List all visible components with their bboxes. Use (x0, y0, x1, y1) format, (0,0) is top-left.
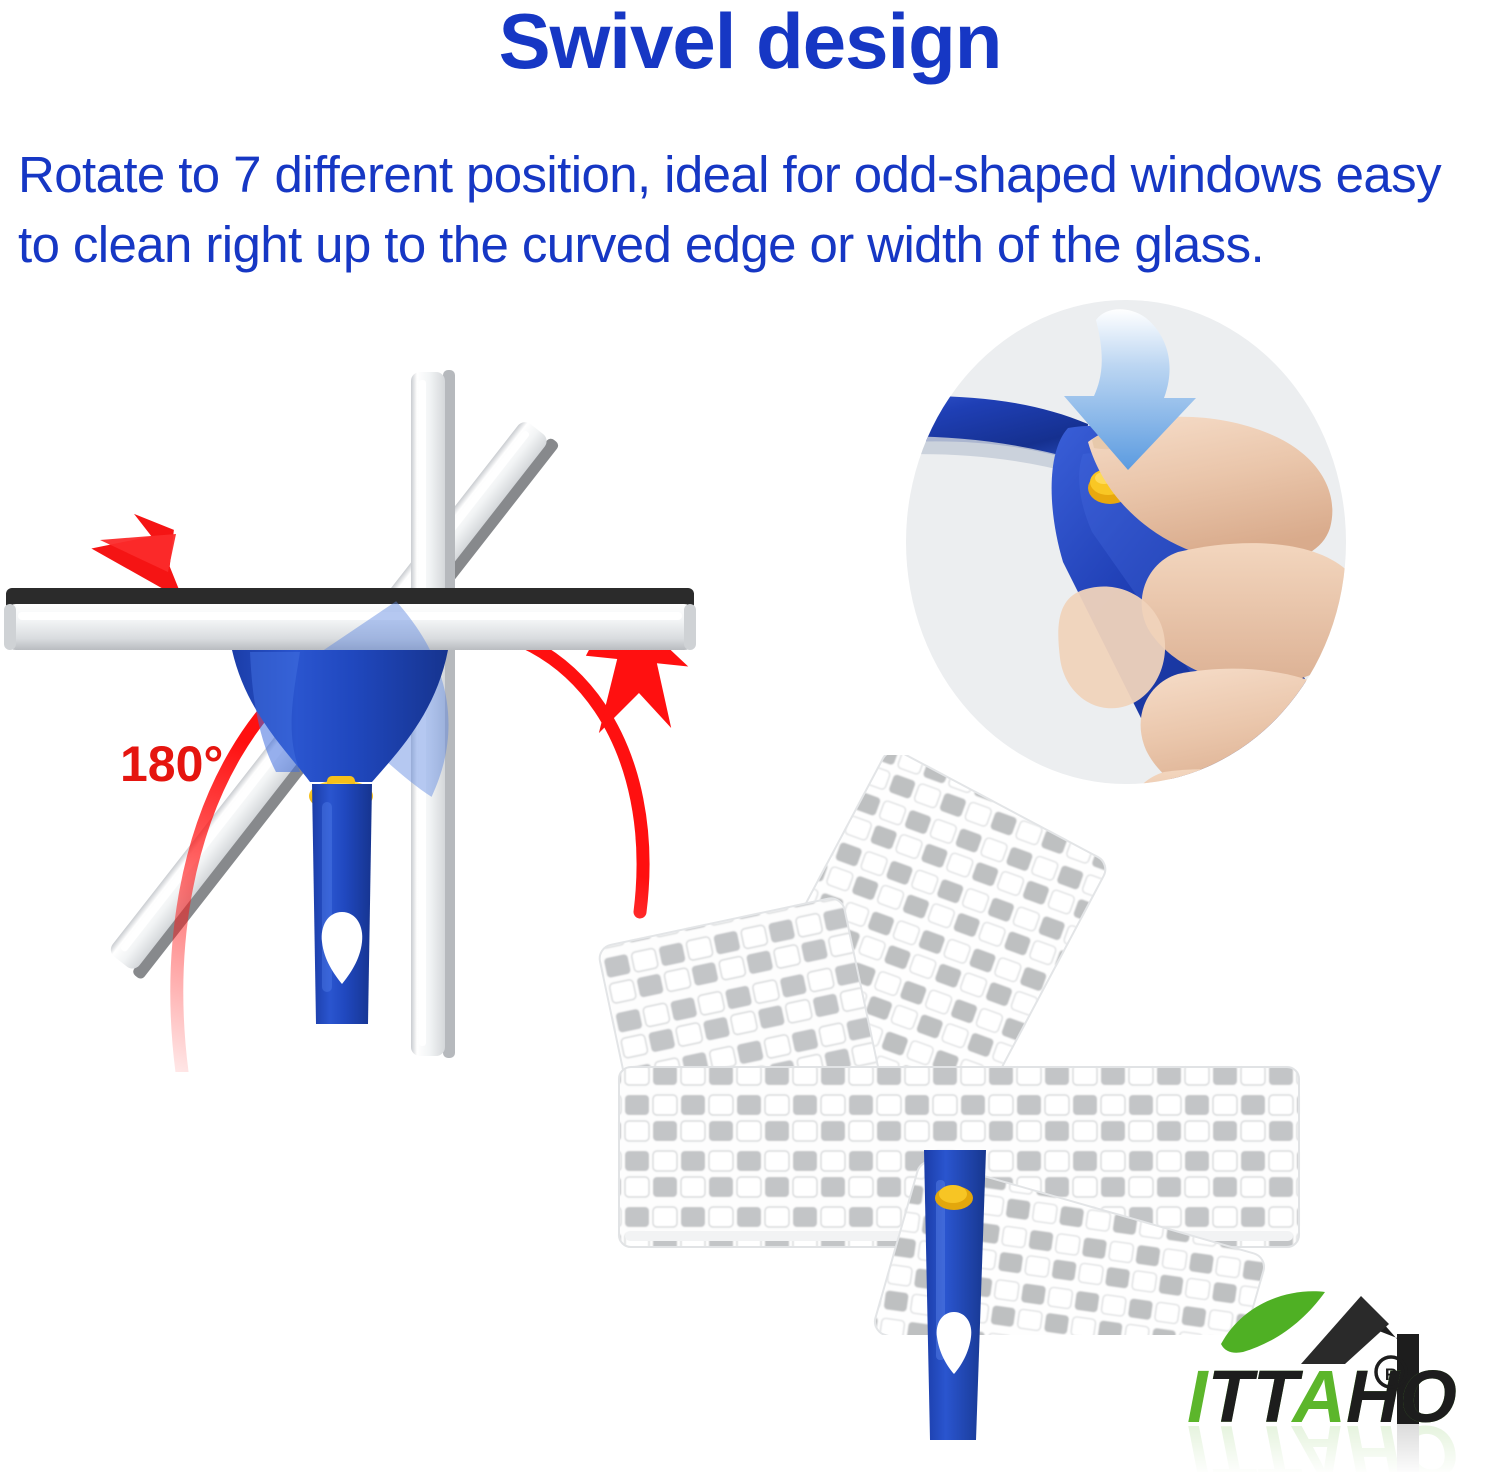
brand-logo: ITTAHO ITTAHO R ITTAHO (1185, 1272, 1485, 1472)
page-title: Swivel design (0, 2, 1500, 80)
infographic-page: Swivel design Rotate to 7 different posi… (0, 0, 1500, 1479)
rotation-angle-label: 180° (120, 735, 223, 793)
lower-squeegee-handle (880, 1140, 1060, 1470)
description-text: Rotate to 7 different position, ideal fo… (18, 140, 1486, 280)
button-press-inset (878, 292, 1408, 792)
svg-text:R: R (1385, 1365, 1397, 1384)
squeegee-handle (312, 784, 372, 1024)
leaf-icon (1221, 1291, 1325, 1352)
